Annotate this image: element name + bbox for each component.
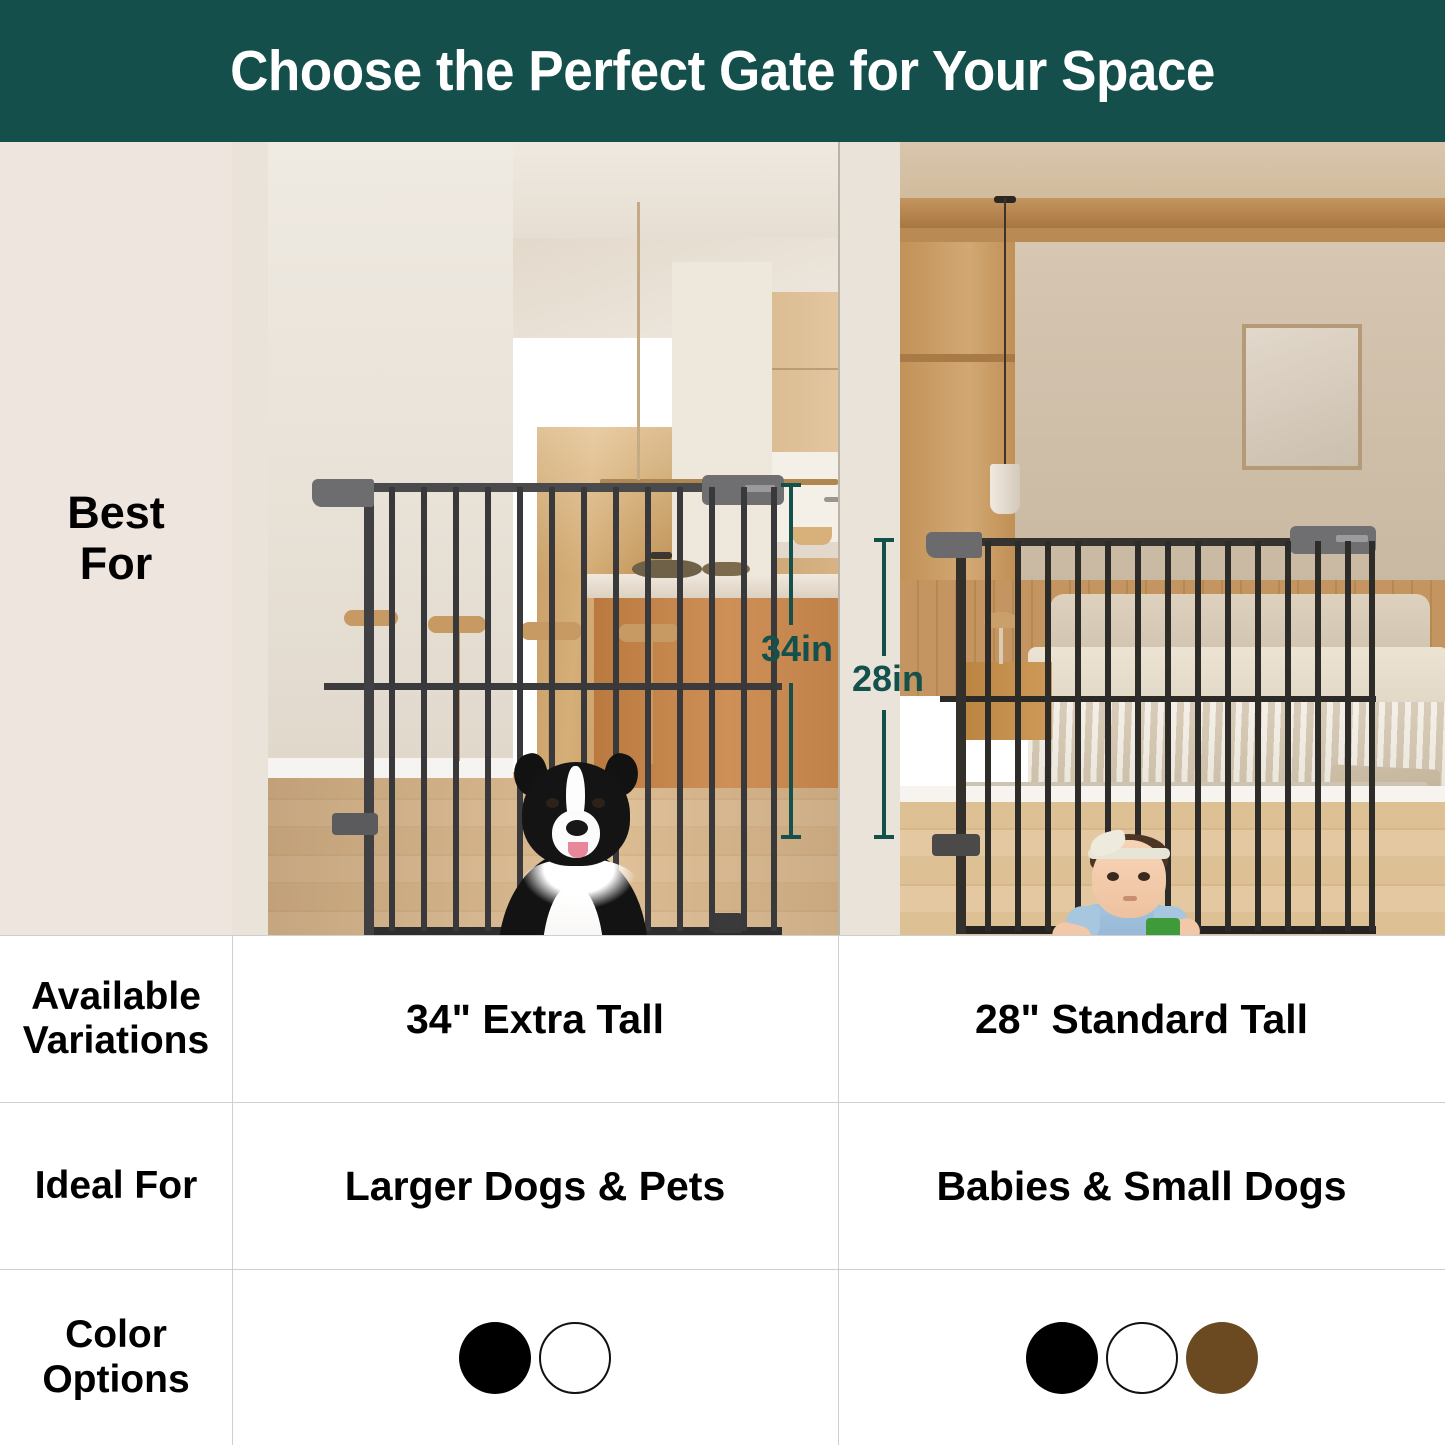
pendant-cord <box>637 202 640 480</box>
row-label-color-options: Color Options <box>0 1270 232 1445</box>
column-divider <box>838 1270 839 1445</box>
column-divider <box>232 1270 233 1445</box>
page-header-banner: Choose the Perfect Gate for Your Space <box>0 0 1445 142</box>
table-row-ideal-for: Ideal For Larger Dogs & Pets Babies & Sm… <box>0 1103 1445 1269</box>
baby-eye-left <box>1107 872 1119 881</box>
row-label-line1: Ideal For <box>35 1164 198 1207</box>
row-label-line2: Options <box>42 1358 189 1401</box>
dimension-cap-bottom <box>781 835 801 839</box>
cell-left-available-variations: 34" Extra Tall <box>232 936 838 1102</box>
comparison-infographic: Choose the Perfect Gate for Your Space B… <box>0 0 1445 1445</box>
color-swatch-white[interactable] <box>539 1322 611 1394</box>
row-label-available-variations: Available Variations <box>0 936 232 1102</box>
cell-right-ideal-for: Babies & Small Dogs <box>838 1103 1445 1269</box>
page-title: Choose the Perfect Gate for Your Space <box>230 38 1215 104</box>
photo-seam-divider <box>838 142 840 935</box>
bedroom-panel-trim <box>900 354 1015 362</box>
row-label-line1: Best <box>67 487 165 538</box>
dimension-label-28in: 28in <box>852 658 924 700</box>
cell-left-color-options <box>232 1270 838 1445</box>
toddler-baby <box>1044 832 1212 935</box>
value-right: Babies & Small Dogs <box>936 1163 1346 1210</box>
color-swatch-black[interactable] <box>459 1322 531 1394</box>
cell-right-available-variations: 28" Standard Tall <box>838 936 1445 1102</box>
row-label-line2: Variations <box>23 1019 209 1062</box>
dog-eye-left <box>546 798 559 808</box>
value-left: Larger Dogs & Pets <box>345 1163 726 1210</box>
baby-mouth <box>1123 896 1137 901</box>
dimension-label-34in: 34in <box>761 628 833 670</box>
left-product-photo <box>232 142 838 935</box>
right-product-photo <box>838 142 1445 935</box>
value-right: 28" Standard Tall <box>975 996 1308 1043</box>
cell-right-color-options <box>838 1270 1445 1445</box>
dimension-line-upper <box>882 538 886 656</box>
toy-block-green <box>1146 918 1180 935</box>
wall-mirror <box>1242 324 1362 470</box>
pendant-lamp-shade <box>990 464 1020 514</box>
dimension-cap-bottom <box>874 835 894 839</box>
row-label-line1: Color <box>65 1313 167 1356</box>
bedroom-crown-molding-lower <box>900 228 1445 242</box>
dimension-line-lower <box>789 683 793 839</box>
table-row-color-options: Color Options <box>0 1270 1445 1445</box>
column-divider <box>838 936 839 1102</box>
upper-cabinets <box>772 292 838 452</box>
border-collie-dog <box>480 754 695 935</box>
counter-bowl <box>792 527 832 545</box>
baby-eye-right <box>1138 872 1150 881</box>
pendant-cord <box>1004 198 1006 466</box>
color-swatch-white[interactable] <box>1106 1322 1178 1394</box>
dimension-line-lower <box>882 710 886 839</box>
value-left: 34" Extra Tall <box>406 996 664 1043</box>
left-wall-edge <box>232 142 268 935</box>
table-row-available-variations: Available Variations 34" Extra Tall 28" … <box>0 936 1445 1102</box>
dog-tongue <box>568 842 588 858</box>
column-divider <box>232 1103 233 1269</box>
color-swatch-brown[interactable] <box>1186 1322 1258 1394</box>
cell-left-ideal-for: Larger Dogs & Pets <box>232 1103 838 1269</box>
hero-comparison-row: Best For <box>0 142 1445 935</box>
row-label-ideal-for: Ideal For <box>0 1103 232 1269</box>
dimension-line-upper <box>789 483 793 625</box>
column-divider <box>838 1103 839 1269</box>
row-label-line1: Available <box>31 975 201 1018</box>
dog-nose <box>566 820 588 836</box>
column-divider <box>232 936 233 1102</box>
color-swatch-group-right <box>1026 1322 1258 1394</box>
row-label-line2: For <box>80 538 153 589</box>
dog-eye-right <box>592 798 605 808</box>
row-label-best-for: Best For <box>0 142 232 935</box>
bedroom-crown-molding <box>900 198 1445 228</box>
kitchen-ceiling <box>513 142 838 238</box>
color-swatch-group-left <box>459 1322 611 1394</box>
color-swatch-black[interactable] <box>1026 1322 1098 1394</box>
